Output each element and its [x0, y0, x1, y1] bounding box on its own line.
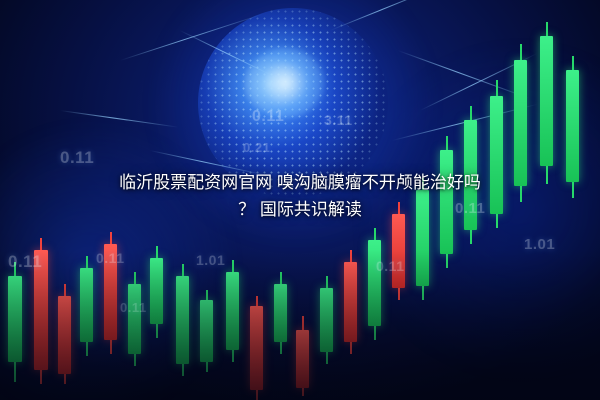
bottom-vignette [0, 250, 600, 400]
headline-line-2: ？ 国际共识解读 [14, 196, 586, 223]
promotional-banner-image: 0.113.110.210.110.111.010.110.111.010.11… [0, 0, 600, 400]
headline-line-1: 临沂股票配资网官网 嗅沟脑膜瘤不开颅能治好吗 [14, 169, 586, 196]
headline-text: 临沂股票配资网官网 嗅沟脑膜瘤不开颅能治好吗 ？ 国际共识解读 [0, 163, 600, 233]
candlestick-body [540, 36, 553, 166]
